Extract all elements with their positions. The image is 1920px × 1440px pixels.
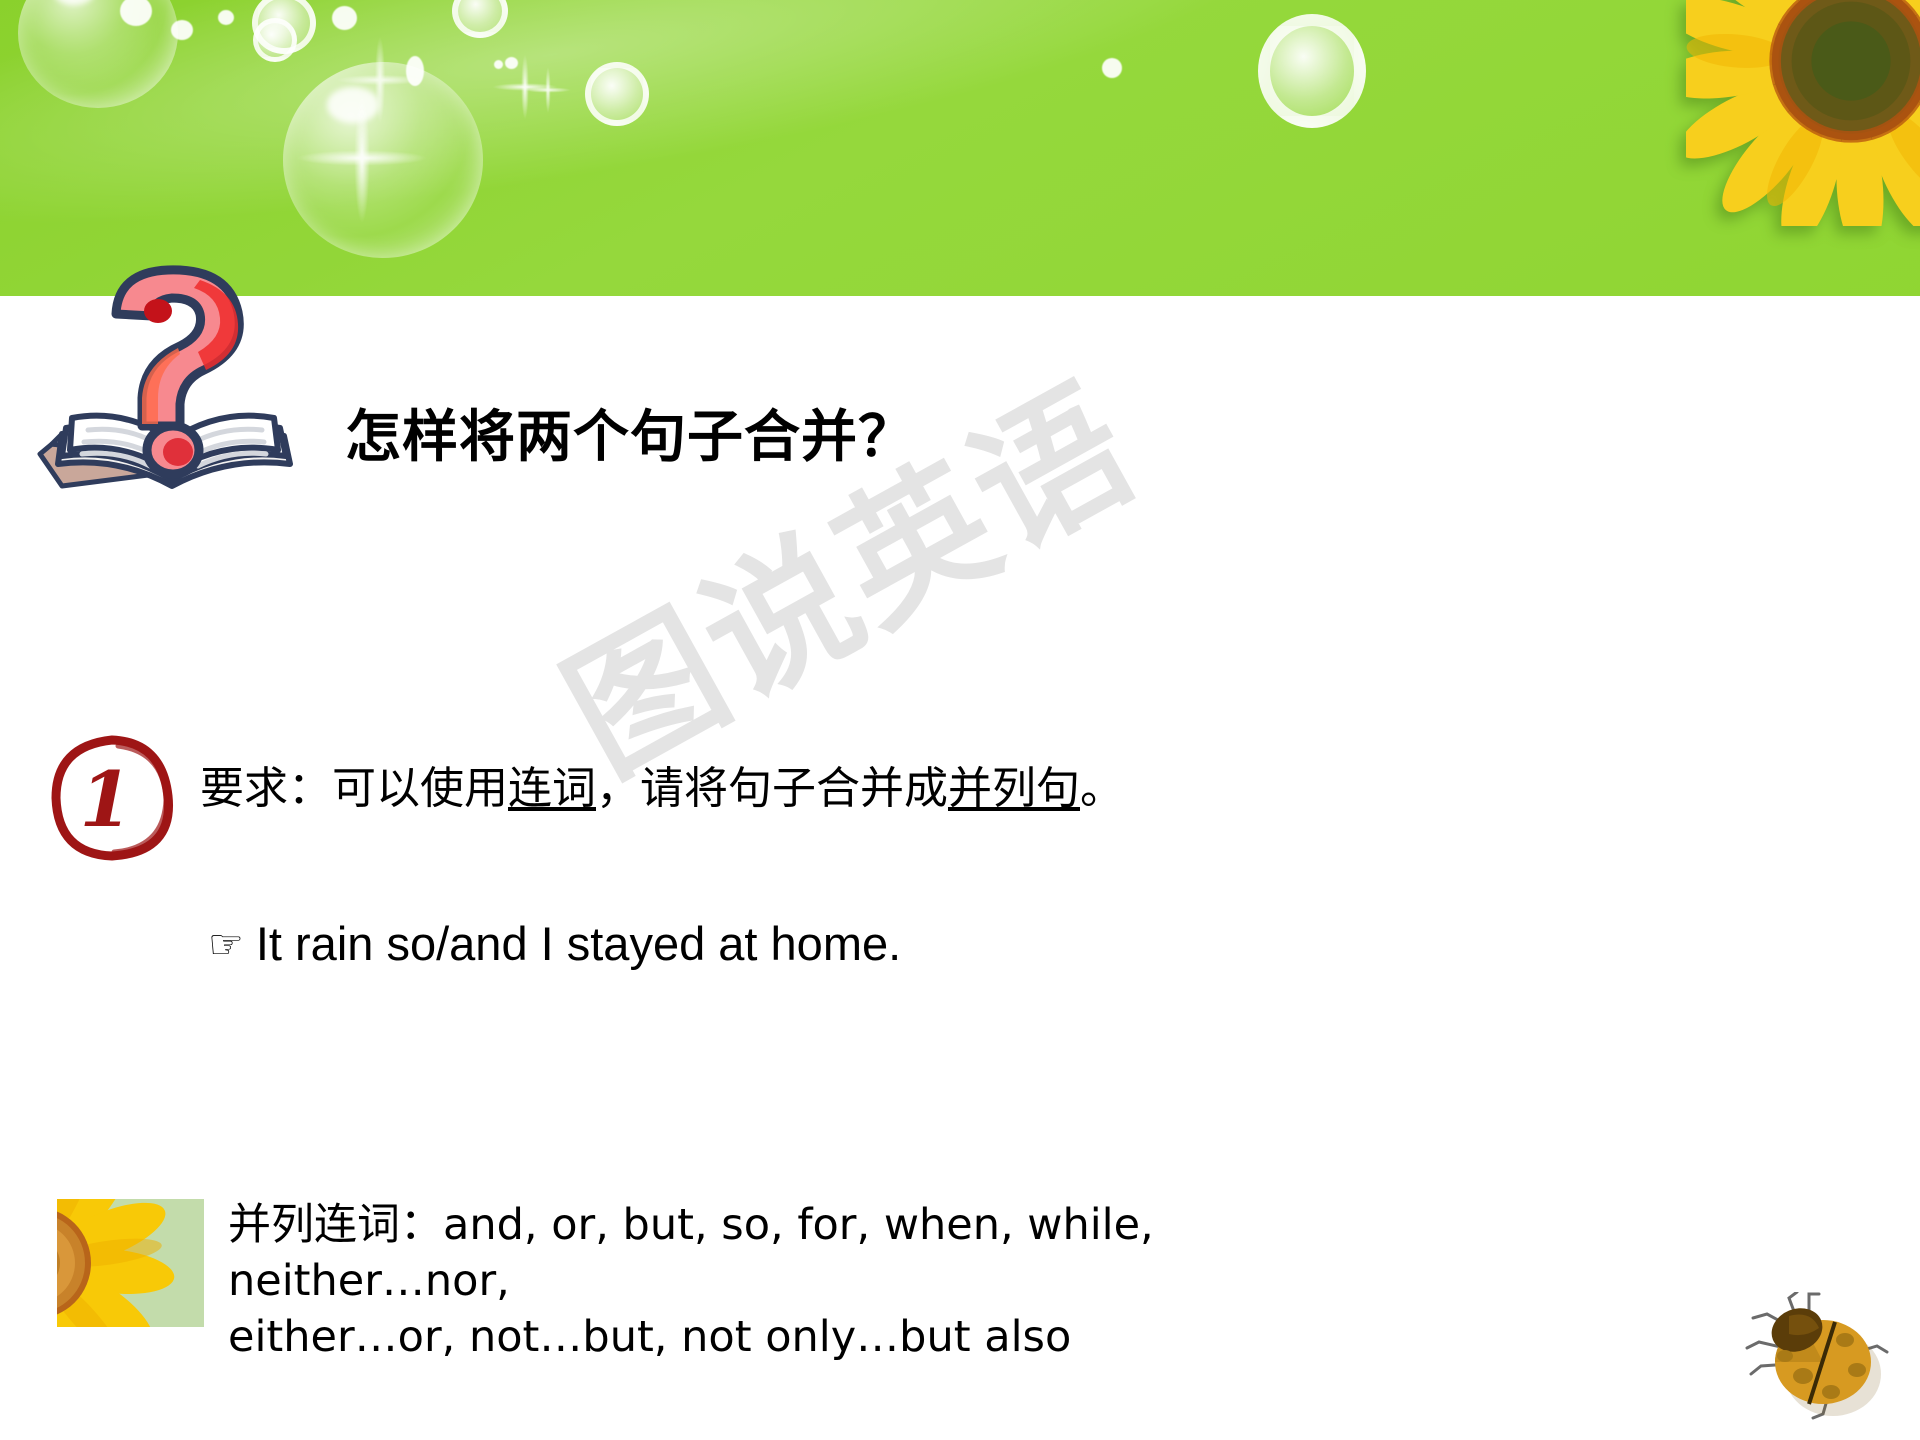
conjunction-list-line-2: either…or, not…but, not only…but also	[228, 1310, 1288, 1366]
sparkle-decoration-b	[320, 20, 440, 140]
bubble-decoration-ring-c	[585, 62, 649, 126]
requirement-prefix: 要求：可以使用	[200, 763, 508, 814]
conjunction-list: 并列连词：and, or, but, so, for, when, while,…	[228, 1198, 1288, 1366]
bubble-decoration-ring-e	[1258, 14, 1366, 128]
example-sentence-text: It rain so/and I stayed at home.	[256, 917, 901, 970]
page-title: 怎样将两个句子合并？	[345, 392, 915, 473]
conjunction-list-line-1: 并列连词：and, or, but, so, for, when, while,…	[228, 1198, 1288, 1310]
sunflower-icon	[1686, 0, 1920, 226]
sparkle-decoration-d	[516, 58, 580, 122]
requirement-keyword-1: 连词	[508, 763, 596, 814]
requirement-suffix: 。	[1080, 763, 1124, 814]
ladybug-icon	[1745, 1292, 1895, 1420]
bubble-dot-c	[218, 10, 234, 25]
bubble-dot-b	[171, 20, 193, 40]
bubble-decoration-ring-d	[253, 18, 297, 62]
slide-canvas: 图说英语	[0, 0, 1920, 1440]
step-number-badge: 1	[48, 730, 178, 865]
requirement-middle: ，请将句子合并成	[596, 763, 948, 814]
header-banner	[0, 0, 1920, 296]
question-mark-book-icon	[22, 258, 322, 528]
bubble-dot-h	[1102, 58, 1122, 78]
pointing-hand-icon: ☞	[208, 922, 244, 968]
sunflower-photo	[57, 1199, 204, 1327]
requirement-line: 要求：可以使用连词，请将句子合并成并列句。	[200, 752, 1124, 816]
requirement-keyword-2: 并列句	[948, 763, 1080, 814]
example-sentence: ☞It rain so/and I stayed at home.	[208, 916, 901, 971]
sunflower-thumb-art	[57, 1199, 204, 1327]
step-number-text: 1	[80, 755, 133, 844]
